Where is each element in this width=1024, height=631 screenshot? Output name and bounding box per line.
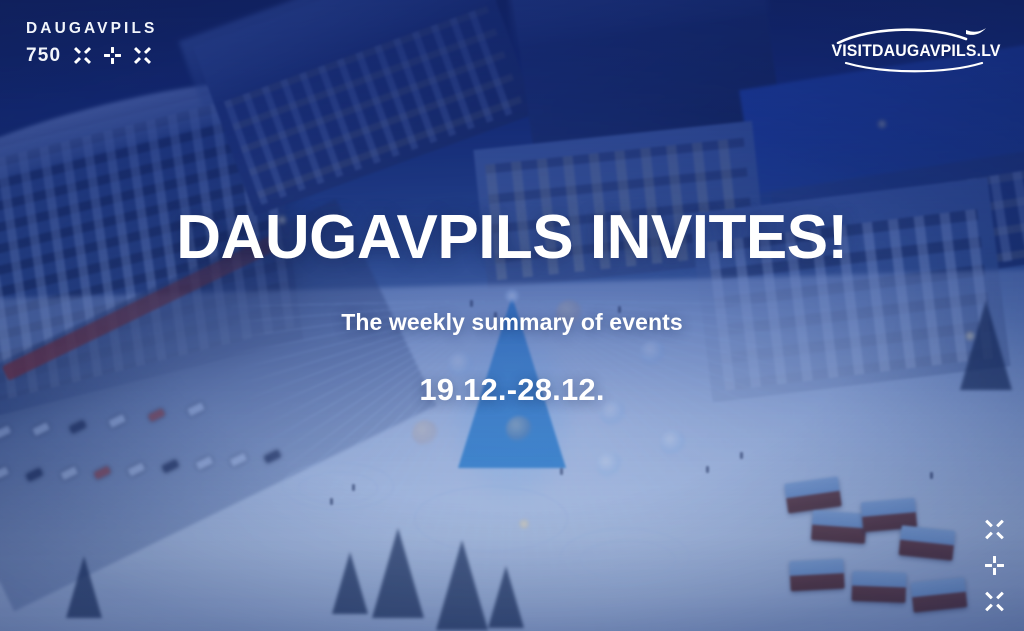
- city-logo-anniversary: 750: [26, 46, 61, 65]
- hero-date-range: 19.12.-28.12.: [0, 372, 1024, 408]
- page-title: DAUGAVPILS INVITES!: [0, 206, 1024, 269]
- snowflake-x-icon: [985, 592, 1004, 611]
- snowflake-x-icon: [74, 47, 91, 64]
- visit-logo-wordmark: VISITDAUGAVPILS.LV: [831, 43, 996, 60]
- visit-daugavpils-logo[interactable]: VISITDAUGAVPILS.LV: [828, 24, 1000, 73]
- underline-arc-icon: [828, 61, 1000, 73]
- swoosh-arc-icon: [828, 24, 1000, 44]
- city-logo-name: DAUGAVPILS: [26, 21, 157, 37]
- snowflake-x-icon: [134, 47, 151, 64]
- snowflake-plus-icon: [104, 47, 121, 64]
- city-logo-anniversary-row: 750: [26, 46, 157, 65]
- poster-root: DAUGAVPILS 750 VISITDAUGAVPILS.LV DAUGAV…: [0, 0, 1024, 631]
- city-logo[interactable]: DAUGAVPILS 750: [26, 21, 157, 65]
- corner-decorative-marks: [985, 520, 1004, 611]
- snowflake-x-icon: [985, 520, 1004, 539]
- content-layer: DAUGAVPILS 750 VISITDAUGAVPILS.LV DAUGAV…: [0, 0, 1024, 631]
- snowflake-plus-icon: [985, 556, 1004, 575]
- hero-subtitle: The weekly summary of events: [0, 309, 1024, 336]
- hero-block: DAUGAVPILS INVITES! The weekly summary o…: [0, 206, 1024, 408]
